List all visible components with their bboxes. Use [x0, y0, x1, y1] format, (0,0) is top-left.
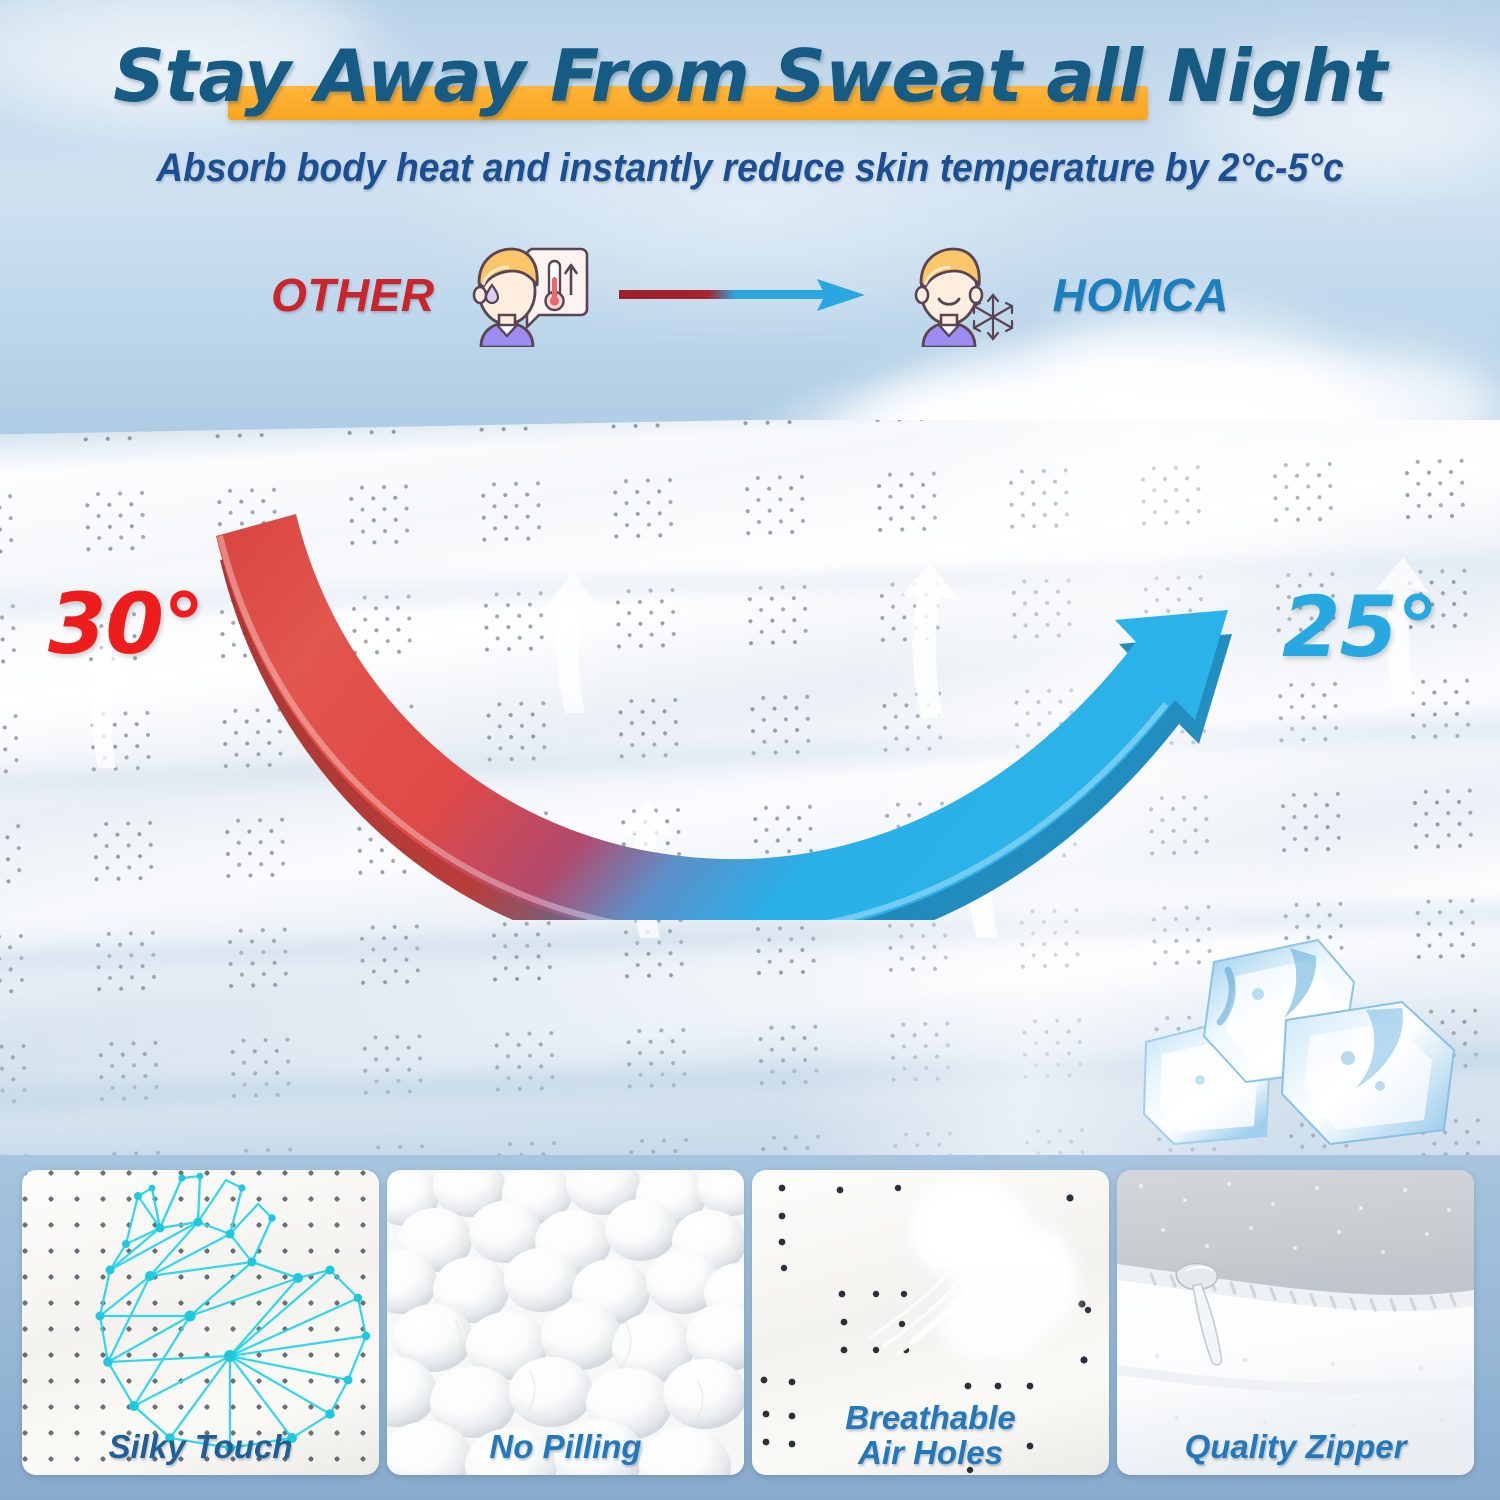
temperature-label-hot: 30°: [48, 575, 204, 673]
comparison-row: OTHER: [0, 240, 1500, 350]
comparison-label-other: OTHER: [271, 268, 435, 322]
ice-cubes-icon: [1140, 930, 1460, 1145]
feature-panel-breathable-air-holes[interactable]: Breathable Air Holes: [752, 1170, 1109, 1475]
page-subtitle: Absorb body heat and instantly reduce sk…: [53, 146, 1448, 190]
feature-panel-silky-touch[interactable]: Silky Touch: [22, 1170, 379, 1475]
transition-arrow-icon: [619, 277, 869, 313]
temperature-drop-arrow-icon: [120, 500, 1300, 920]
feature-label: No Pilling: [387, 1430, 744, 1465]
feature-label-group: Breathable Air Holes: [752, 1401, 1109, 1471]
cool-person-snowflake-icon: [895, 243, 1027, 347]
product-infographic: Stay Away From Sweat all Night Absorb bo…: [0, 0, 1500, 1500]
feature-panel-quality-zipper[interactable]: Quality Zipper: [1117, 1170, 1474, 1475]
feature-label: Breathable: [752, 1401, 1109, 1436]
wireframe-hand-icon: [30, 1170, 375, 1466]
feature-label: Quality Zipper: [1117, 1430, 1474, 1465]
comparison-label-homca: HOMCA: [1053, 268, 1229, 322]
feature-label: Silky Touch: [22, 1430, 379, 1465]
feature-panel-no-pilling[interactable]: No Pilling: [387, 1170, 744, 1475]
feature-label-line2: Air Holes: [752, 1436, 1109, 1471]
feature-panels: Silky Touch: [0, 1155, 1500, 1500]
page-title: Stay Away From Sweat all Night: [0, 40, 1500, 112]
sweating-person-thermometer-icon: [461, 243, 593, 347]
temperature-label-cool: 25°: [1282, 578, 1438, 676]
page-title-wrap: Stay Away From Sweat all Night: [0, 40, 1500, 112]
